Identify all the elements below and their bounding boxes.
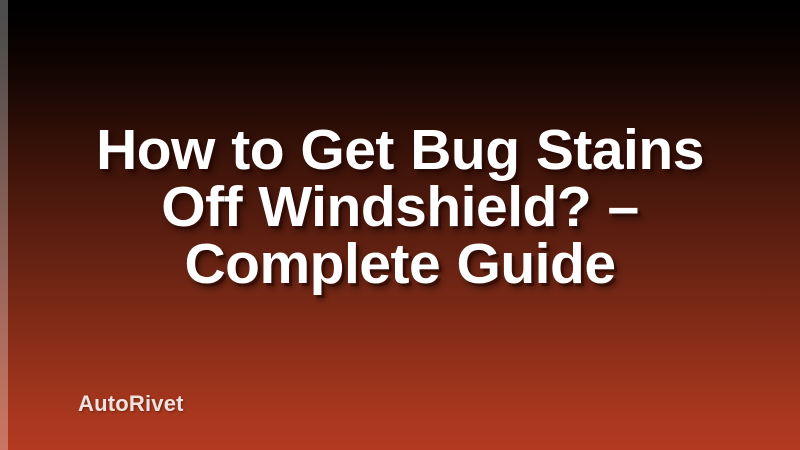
page-title: How to Get Bug Stains Off Windshield? – … (40, 122, 760, 293)
article-title-card: How to Get Bug Stains Off Windshield? – … (0, 0, 800, 450)
title-block: How to Get Bug Stains Off Windshield? – … (0, 122, 800, 293)
brand-name: AutoRivet (78, 391, 184, 417)
